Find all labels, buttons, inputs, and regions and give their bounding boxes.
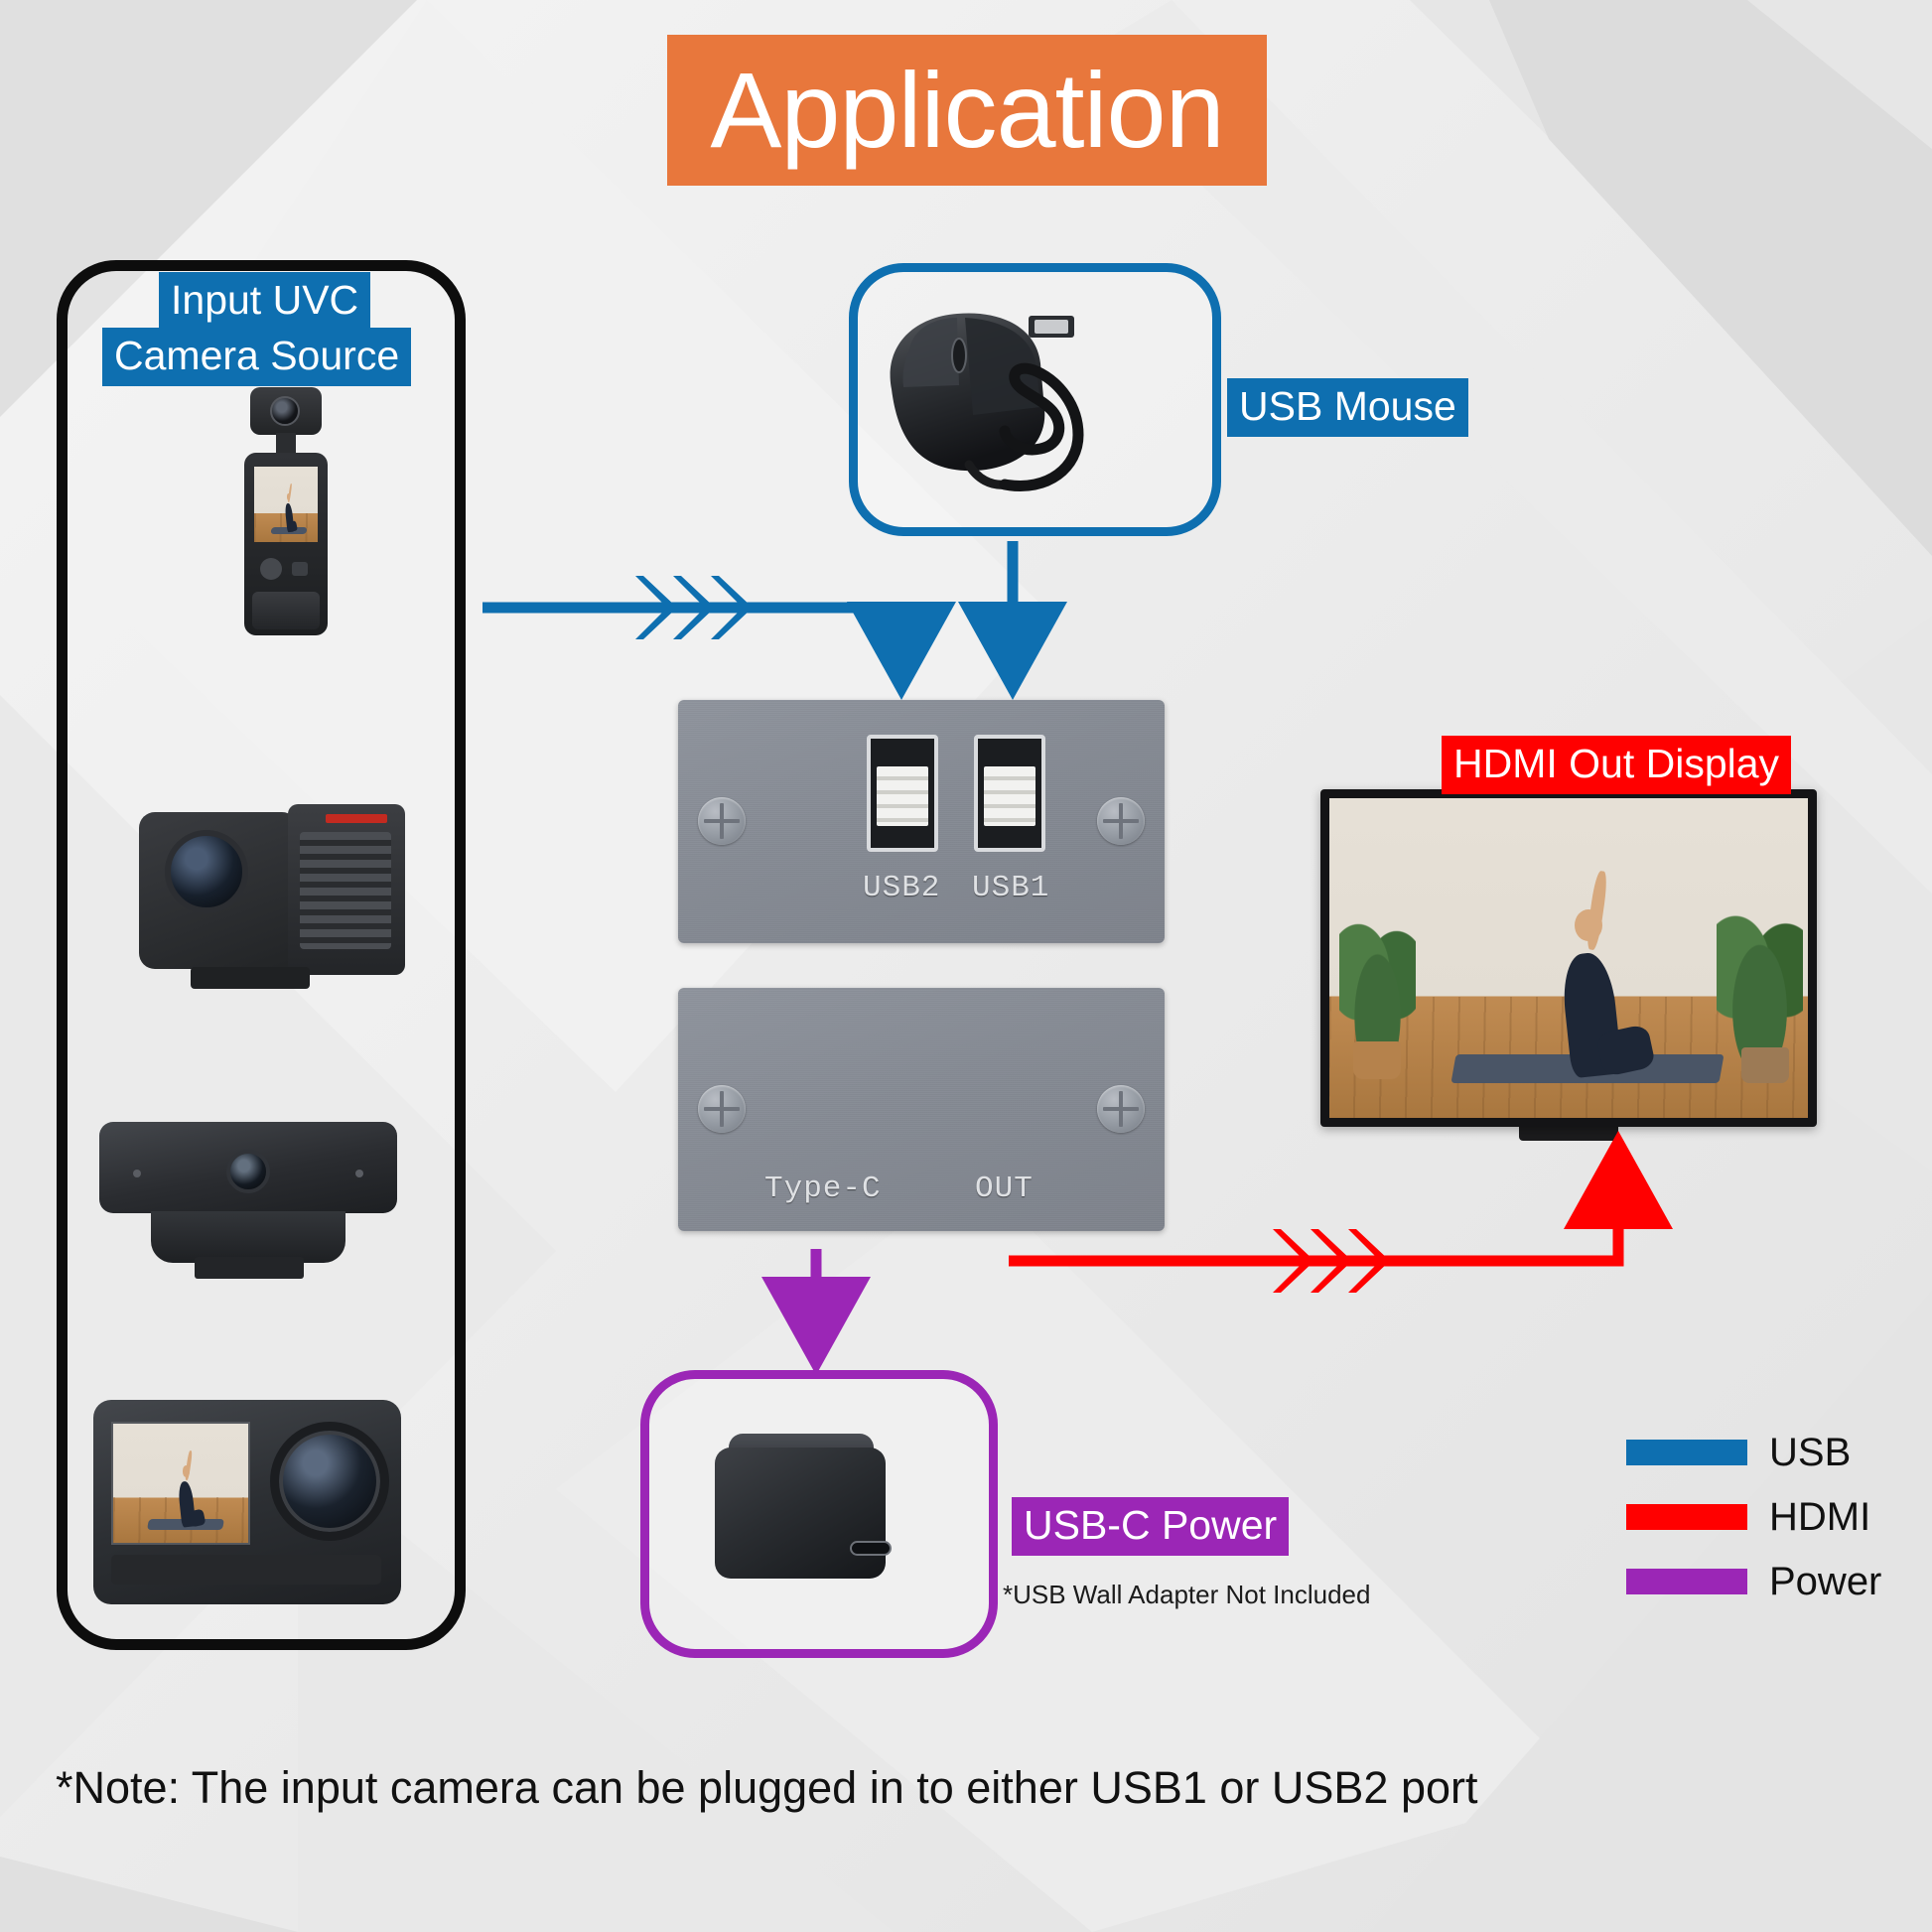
hdmi-out-port-label: OUT [975, 1172, 1034, 1206]
legend-swatch-power [1626, 1569, 1747, 1594]
legend: USB HDMI Power [1626, 1427, 1881, 1620]
label-camera-source: Camera Source [102, 328, 411, 386]
adapter-body [715, 1448, 886, 1579]
adapter-not-included-note: *USB Wall Adapter Not Included [1003, 1580, 1370, 1610]
yoga-scene [113, 1424, 248, 1543]
legend-swatch-usb [1626, 1440, 1747, 1465]
camera-red-accent [326, 814, 387, 823]
legend-label-power: Power [1769, 1562, 1881, 1601]
footer-note: *Note: The input camera can be plugged i… [56, 1762, 1478, 1814]
legend-item-power: Power [1626, 1556, 1881, 1607]
camera-action-module [139, 804, 405, 993]
label-input-uvc: Input UVC [159, 272, 370, 331]
tv-screen [1329, 798, 1808, 1118]
usb1-port [974, 735, 1045, 852]
legend-item-usb: USB [1626, 1427, 1881, 1478]
camera-lens-icon [226, 1150, 270, 1193]
camera-grip [252, 592, 320, 629]
usb-c-power-adapter-icon [705, 1420, 913, 1608]
webcam-base [195, 1257, 304, 1279]
yoga-scene [1329, 798, 1808, 1118]
camera-lens-icon [165, 830, 248, 913]
type-c-port-label: Type-C [764, 1172, 882, 1206]
camera-lens-icon [270, 1422, 389, 1541]
camera-preview-screen [111, 1422, 250, 1545]
camera-mode-button [292, 562, 308, 576]
label-usbc-power: USB-C Power [1012, 1497, 1289, 1556]
screw-icon [1097, 1085, 1145, 1133]
webcam-mount [151, 1211, 345, 1263]
camera-wide-webcam [99, 1122, 397, 1291]
screw-icon [1097, 797, 1145, 845]
yoga-scene [254, 467, 318, 542]
legend-label-usb: USB [1769, 1433, 1851, 1472]
camera-preview-screen [254, 467, 318, 542]
tv-stand [1519, 1127, 1618, 1141]
label-hdmi-out-display: HDMI Out Display [1442, 736, 1791, 794]
camera-pocket-gimbal [230, 387, 342, 635]
adapter-usb-c-port [850, 1541, 892, 1556]
camera-lens-icon [270, 396, 300, 426]
page-title-banner: Application [667, 35, 1267, 186]
mic-hole-icon [355, 1170, 363, 1177]
legend-swatch-hdmi [1626, 1504, 1747, 1530]
hdmi-tv-display [1320, 789, 1817, 1127]
camera-base [191, 967, 310, 989]
camera-action-with-screen [93, 1400, 401, 1618]
label-usb-mouse: USB Mouse [1227, 378, 1468, 437]
camera-vents [300, 832, 391, 949]
usb1-port-label: USB1 [972, 871, 1049, 905]
mic-hole-icon [133, 1170, 141, 1177]
legend-item-hdmi: HDMI [1626, 1491, 1881, 1543]
device-usb-faceplate: USB2 USB1 [678, 700, 1165, 943]
usb-mouse-icon [874, 298, 1201, 496]
camera-record-button [260, 558, 282, 580]
screw-icon [698, 797, 746, 845]
usb2-port-label: USB2 [863, 871, 940, 905]
device-output-faceplate [678, 988, 1165, 1231]
camera-bottom-strip [111, 1555, 381, 1585]
legend-label-hdmi: HDMI [1769, 1497, 1870, 1537]
page-title: Application [710, 57, 1223, 164]
screw-icon [698, 1085, 746, 1133]
usb2-port [867, 735, 938, 852]
